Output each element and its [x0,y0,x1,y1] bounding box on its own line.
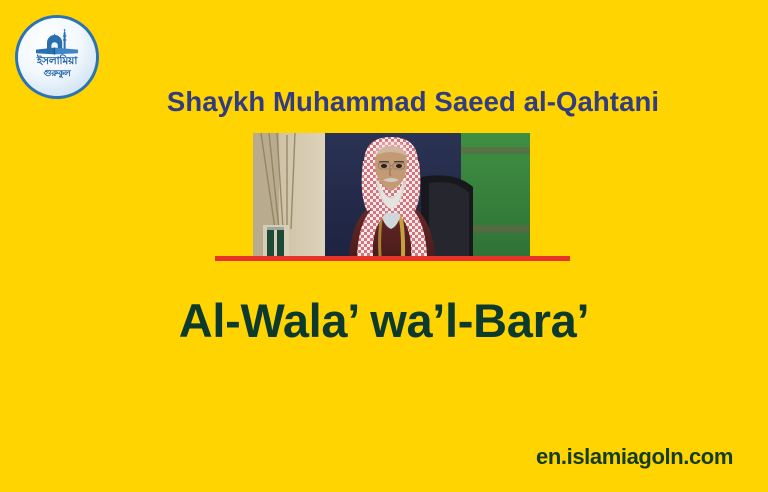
logo-text-line-2: গুরুকুল [43,69,70,78]
speaker-photo[interactable] [253,133,530,256]
logo-text-line-1: ইসলামিয়া [37,56,77,67]
speaker-name: Shaykh Muhammad Saeed al-Qahtani [0,86,768,118]
logo-inner: ইসলামিয়া গুরুকুল [22,22,92,92]
website-url[interactable]: en.islamiagoln.com [536,444,733,470]
islamia-gurukul-logo[interactable]: ইসলামিয়া গুরুকুল [18,18,96,96]
slide-canvas: ইসলামিয়া গুরুকুল Shaykh Muhammad Saeed … [0,0,768,492]
page-title: Al-Wala’ wa’l-Bara’ [0,293,768,348]
mosque-book-emblem-icon [34,29,80,55]
red-divider-rule [215,256,570,261]
